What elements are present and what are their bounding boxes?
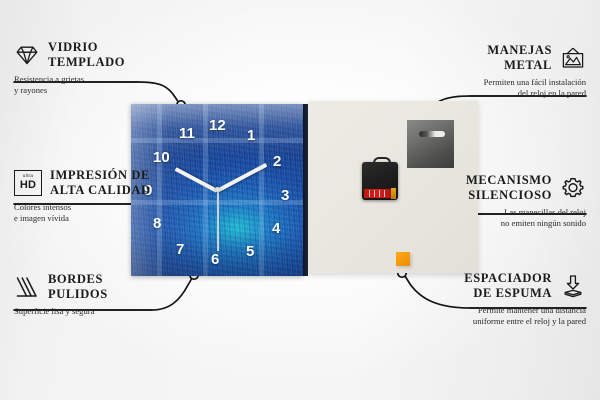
feature-mecanismo-silencioso: MECANISMO SILENCIOSO Las manecillas del … [376, 173, 586, 229]
clock-center-cap [215, 187, 220, 192]
feature-vidrio-templado: VIDRIO TEMPLADO Resistencia a grietas y … [14, 40, 204, 96]
clock-numeral-10: 10 [153, 150, 170, 165]
feature-description: Las manecillas del reloj no emiten ningú… [376, 207, 586, 229]
feature-description: Colores intensos e imagen vívida [14, 202, 214, 224]
feature-manejas-metal: MANEJAS METAL Permiten una fácil instala… [376, 43, 586, 99]
feature-description: Permiten una fácil instalación del reloj… [376, 77, 586, 99]
hanger-slot [419, 131, 445, 137]
feature-title: MECANISMO SILENCIOSO [466, 173, 552, 203]
foam-spacer-icon [560, 273, 586, 299]
clock-numeral-12: 12 [209, 118, 226, 133]
feature-title: IMPRESIÓN DE ALTA CALIDAD [50, 168, 151, 198]
mechanism-hook [373, 157, 391, 167]
clock-numeral-2: 2 [273, 154, 281, 169]
feature-description: Permite mantener una distancia uniforme … [366, 305, 586, 327]
feature-title: ESPACIADOR DE ESPUMA [464, 271, 552, 301]
ultra-hd-icon-main: HD [20, 180, 36, 191]
clock-numeral-6: 6 [211, 252, 219, 267]
feature-espaciador-espuma: ESPACIADOR DE ESPUMA Permite mantener un… [366, 271, 586, 327]
feature-title: VIDRIO TEMPLADO [48, 40, 125, 70]
feature-bordes-pulidos: BORDES PULIDOS Superficie lisa y segura [14, 272, 204, 317]
metal-hanger-plate [407, 120, 454, 168]
clock-numeral-3: 3 [281, 188, 289, 203]
feature-title: BORDES PULIDOS [48, 272, 108, 302]
wall-frame-icon [560, 45, 586, 71]
clock-numeral-4: 4 [272, 221, 280, 236]
clock-second-hand [217, 189, 219, 251]
infographic-canvas: 12 1 2 3 4 5 6 7 8 9 10 11 [0, 0, 600, 400]
foam-spacer-block [396, 252, 410, 266]
ultra-hd-icon: ultra HD [14, 170, 42, 196]
gear-icon [560, 175, 586, 201]
clock-numeral-7: 7 [176, 242, 184, 257]
clock-numeral-11: 11 [179, 126, 195, 141]
clock-numeral-1: 1 [247, 128, 255, 143]
feature-impresion-alta-calidad: ultra HD IMPRESIÓN DE ALTA CALIDAD Color… [14, 168, 214, 224]
clock-numeral-5: 5 [246, 244, 254, 259]
feature-description: Resistencia a grietas y rayones [14, 74, 204, 96]
feature-description: Superficie lisa y segura [14, 306, 204, 317]
diamond-icon [14, 42, 40, 68]
polished-edges-icon [14, 274, 40, 300]
feature-title: MANEJAS METAL [487, 43, 552, 73]
